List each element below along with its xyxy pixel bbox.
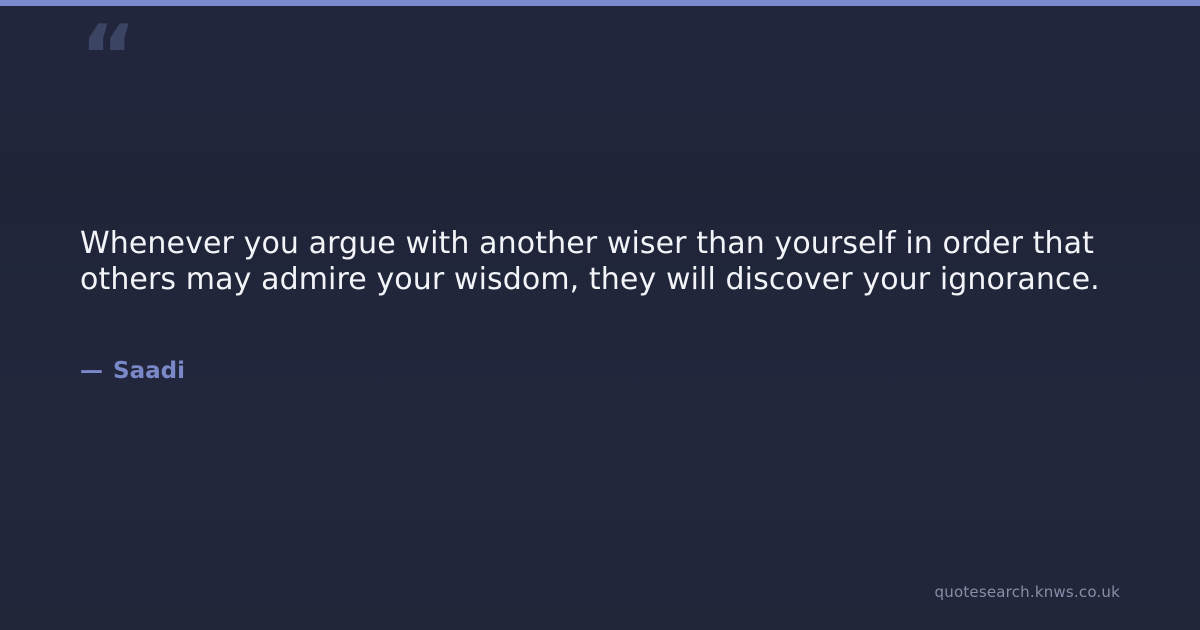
- quote-card: “ Whenever you argue with another wiser …: [0, 0, 1200, 630]
- quote-body: Whenever you argue with another wiser th…: [80, 226, 1100, 298]
- quote-text: Whenever you argue with another wiser th…: [80, 226, 1100, 298]
- top-accent-bar: [0, 0, 1200, 6]
- site-watermark: quotesearch.knws.co.uk: [935, 582, 1120, 602]
- open-quote-icon: “: [80, 14, 140, 90]
- quote-attribution: — Saadi: [80, 356, 185, 386]
- attribution-author: Saadi: [113, 356, 185, 386]
- attribution-dash: —: [80, 356, 103, 386]
